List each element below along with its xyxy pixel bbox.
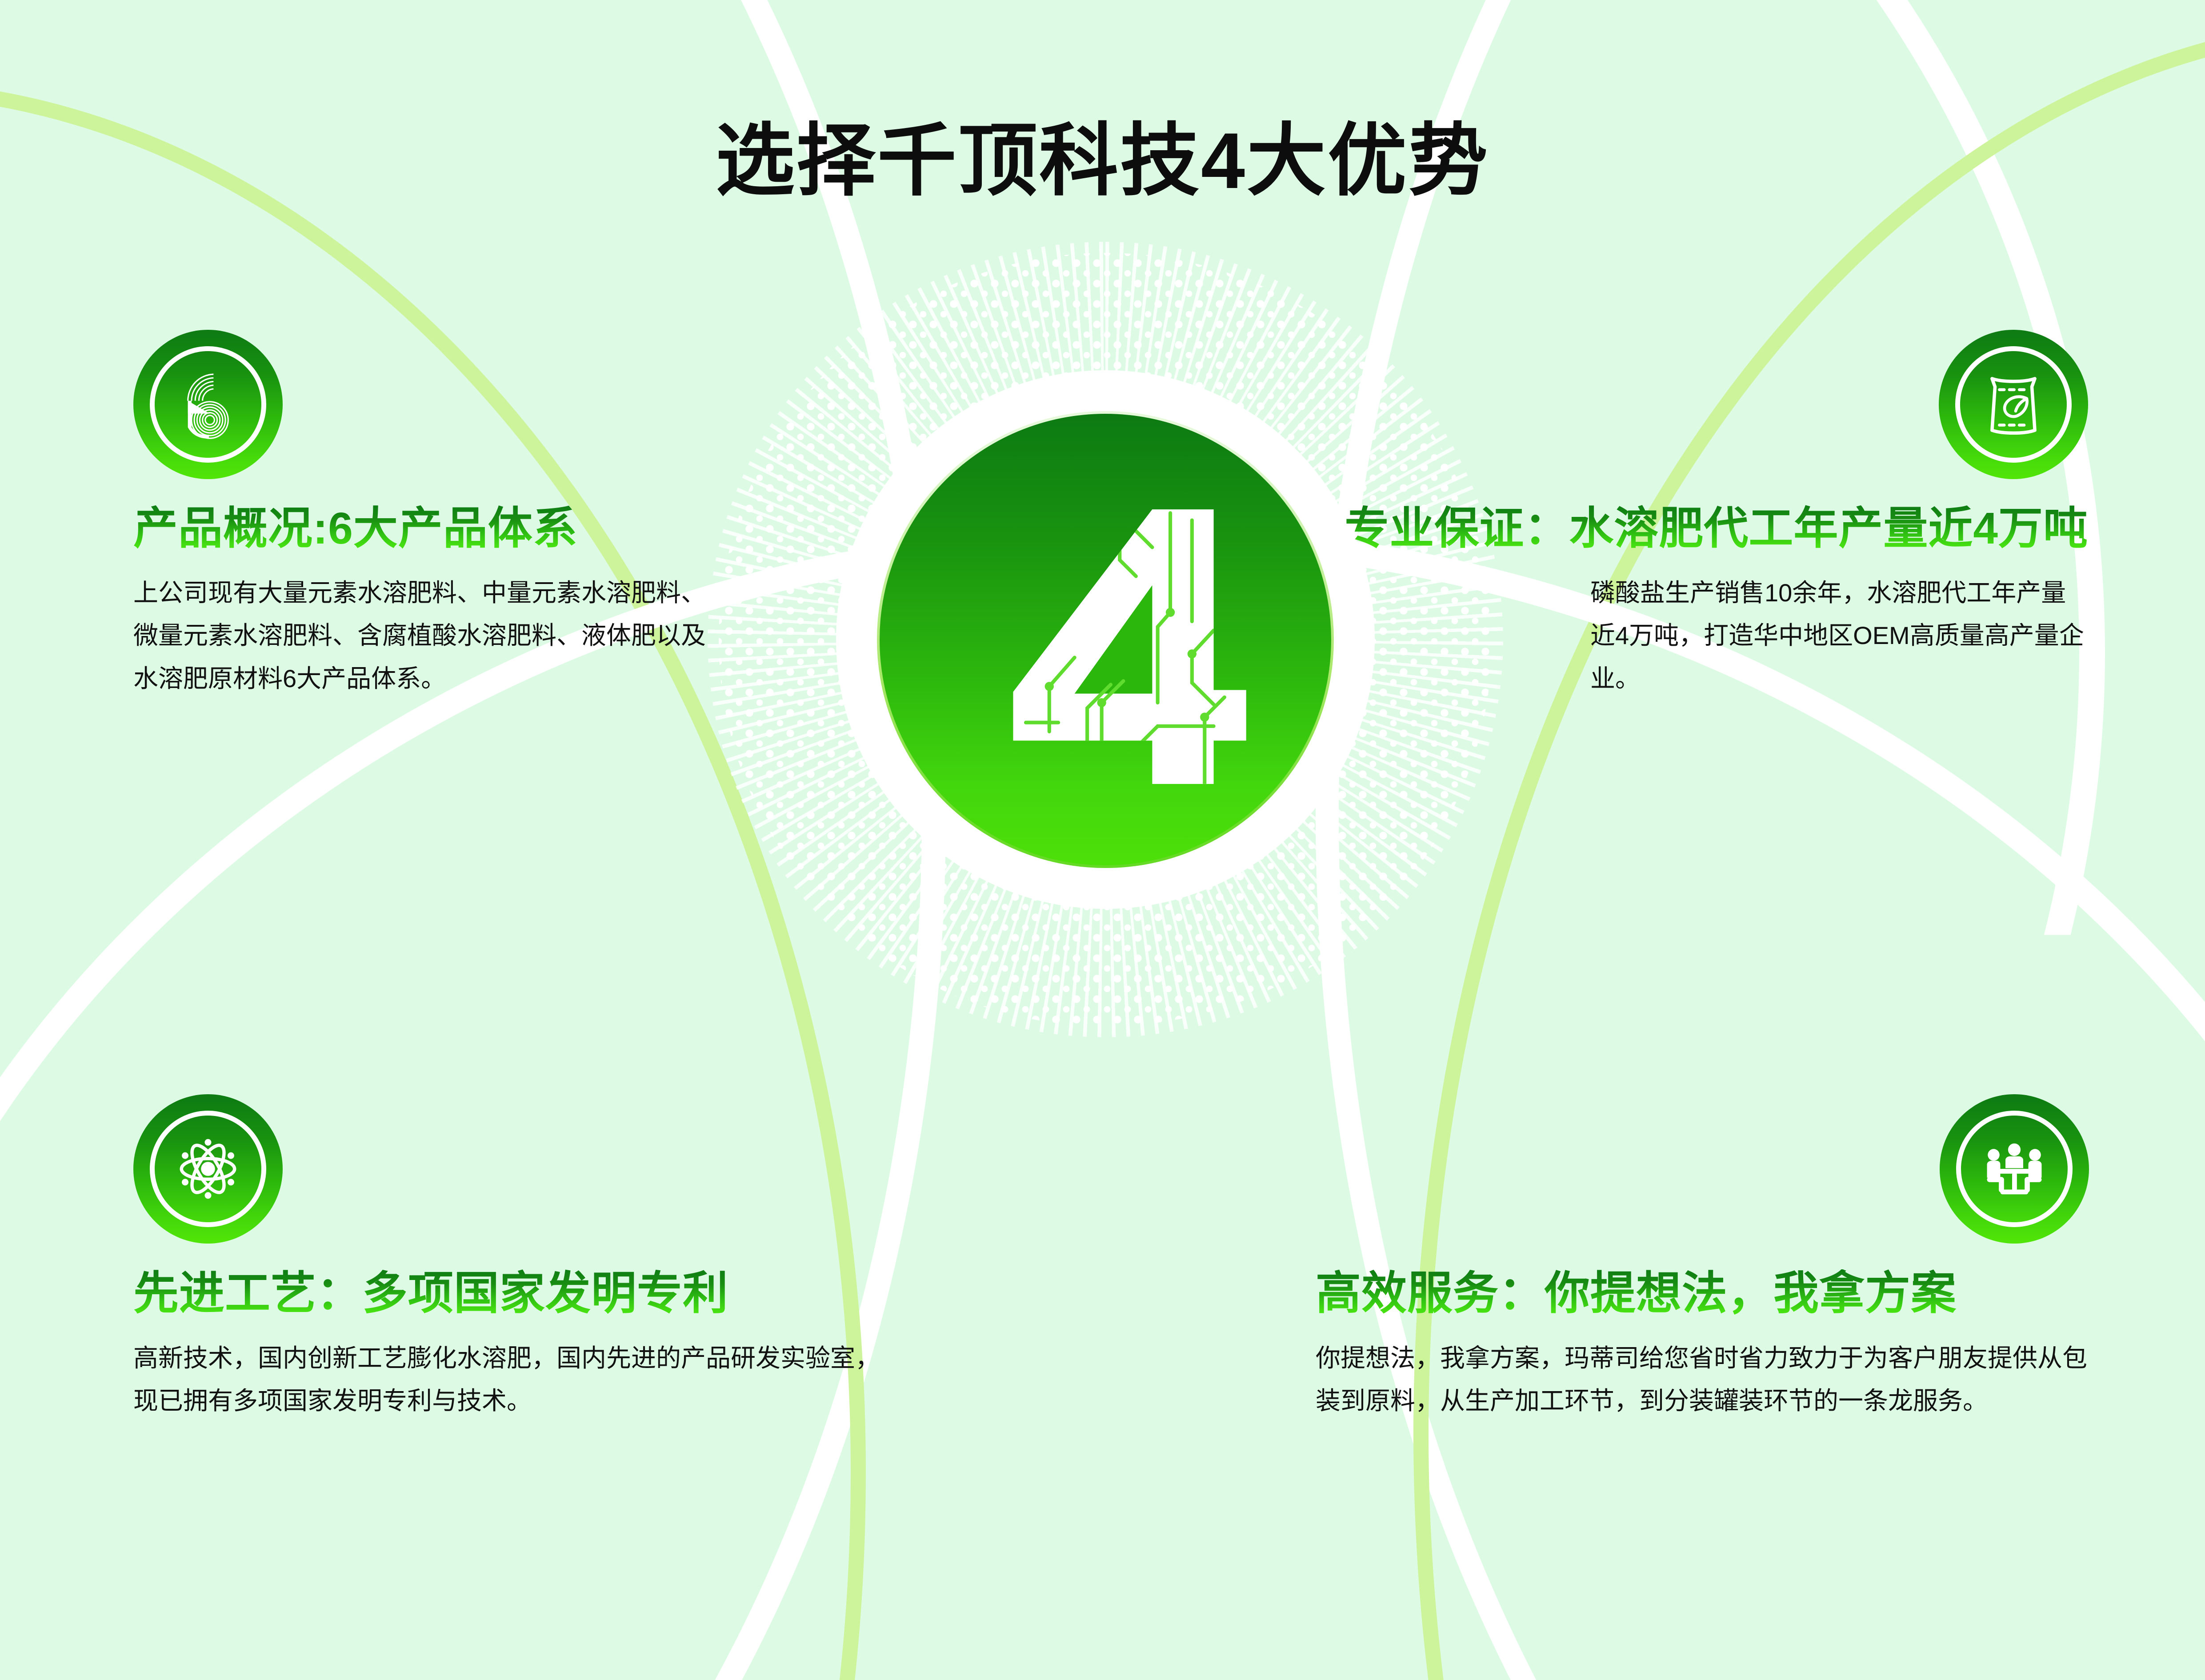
feature-body: 高新技术，国内创新工艺膨化水溶肥，国内先进的产品研发实验室，现已拥有多项国家发明… <box>133 1337 889 1423</box>
atom-icon <box>171 1132 245 1206</box>
fertilizer-bag-icon <box>1977 368 2050 441</box>
stylized-six-icon <box>162 359 254 450</box>
feature-body: 你提想法，我拿方案，玛蒂司给您省时省力致力于为客户朋友提供从包装到原料，从生产加… <box>1316 1337 2089 1423</box>
feature-badge-top-left <box>133 330 283 479</box>
feature-badge-top-right <box>1939 330 2088 479</box>
feature-body: 上公司现有大量元素水溶肥料、中量元素水溶肥料、微量元素水溶肥料、含腐植酸水溶肥料… <box>133 572 729 700</box>
feature-title: 先进工艺：多项国家发明专利 <box>133 1269 889 1317</box>
feature-title: 专业保证：水溶肥代工年产量近4万吨 <box>1199 505 2088 552</box>
feature-block-bottom-right: 高效服务：你提想法，我拿方案 你提想法，我拿方案，玛蒂司给您省时省力致力于为客户… <box>1316 1094 2089 1423</box>
infographic-canvas: 选择千顶科技4大优势 <box>0 0 2205 1680</box>
feature-block-bottom-left: 先进工艺：多项国家发明专利 高新技术，国内创新工艺膨化水溶肥，国内先进的产品研发… <box>133 1094 889 1423</box>
feature-title: 产品概况:6大产品体系 <box>133 505 729 552</box>
background-arc-lime-right <box>1413 18 2205 1680</box>
feature-badge-bottom-right <box>1940 1094 2089 1244</box>
feature-body: 磷酸盐生产销售10余年，水溶肥代工年产量近4万吨，打造华中地区OEM高质量高产量… <box>1590 572 2088 700</box>
feature-title: 高效服务：你提想法，我拿方案 <box>1316 1269 2089 1317</box>
page-title: 选择千顶科技4大优势 <box>0 97 2205 211</box>
meeting-people-icon <box>1977 1132 2051 1206</box>
feature-block-top-right: 专业保证：水溶肥代工年产量近4万吨 磷酸盐生产销售10余年，水溶肥代工年产量近4… <box>1199 330 2088 700</box>
feature-block-top-left: 产品概况:6大产品体系 上公司现有大量元素水溶肥料、中量元素水溶肥料、微量元素水… <box>133 330 729 700</box>
feature-badge-bottom-left <box>133 1094 283 1244</box>
